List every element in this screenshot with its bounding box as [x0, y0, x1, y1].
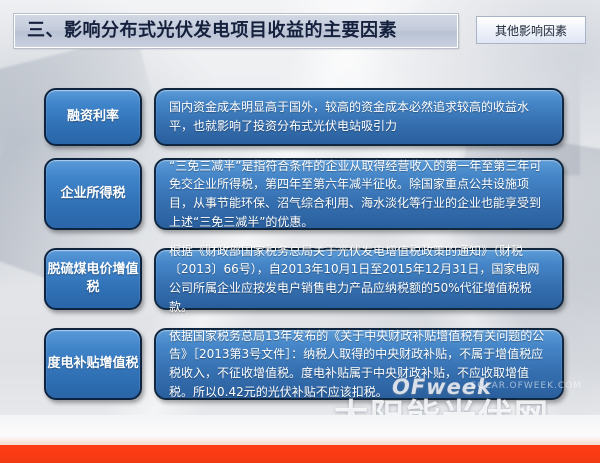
bottom-red-bar [0, 445, 600, 463]
table-row: 脱硫煤电价增值税 根据《财政部国家税务总局关于光伏发电增值税政策的通知》（财税〔… [44, 248, 564, 310]
factor-description-text: 依据国家税务总局13年发布的《关于中央财政补贴增值税有关问题的公告》［2013第… [169, 327, 550, 401]
table-row: 度电补贴增值税 依据国家税务总局13年发布的《关于中央财政补贴增值税有关问题的公… [44, 328, 564, 400]
factor-description: 根据《财政部国家税务总局关于光伏发电增值税政策的通知》（财税〔2013〕66号）… [154, 248, 564, 310]
table-row: 融资利率 国内资金成本明显高于国外，较高的资金成本必然追求较高的收益水平，也就影… [44, 88, 564, 146]
factor-label: 度电补贴增值税 [44, 328, 142, 400]
factor-label: 融资利率 [44, 88, 142, 146]
factor-label: 企业所得税 [44, 158, 142, 230]
factor-description: “三免三减半”是指符合条件的企业从取得经营收入的第一年至第三年可免交企业所得税，… [154, 158, 564, 230]
slide-canvas: 三、影响分布式光伏发电项目收益的主要因素 其他影响因素 融资利率 国内资金成本明… [0, 0, 600, 463]
factor-label: 脱硫煤电价增值税 [44, 248, 142, 310]
factor-description-text: 国内资金成本明显高于国外，较高的资金成本必然追求较高的收益水平，也就影响了投资分… [169, 98, 550, 135]
factor-rows: 融资利率 国内资金成本明显高于国外，较高的资金成本必然追求较高的收益水平，也就影… [0, 0, 600, 463]
factor-description: 依据国家税务总局13年发布的《关于中央财政补贴增值税有关问题的公告》［2013第… [154, 328, 564, 400]
factor-description-text: 根据《财政部国家税务总局关于光伏发电增值税政策的通知》（财税〔2013〕66号）… [169, 242, 550, 316]
factor-description-text: “三免三减半”是指符合条件的企业从取得经营收入的第一年至第三年可免交企业所得税，… [169, 157, 550, 231]
table-row: 企业所得税 “三免三减半”是指符合条件的企业从取得经营收入的第一年至第三年可免交… [44, 158, 564, 230]
bottom-white-strip [0, 415, 600, 445]
factor-description: 国内资金成本明显高于国外，较高的资金成本必然追求较高的收益水平，也就影响了投资分… [154, 88, 564, 146]
